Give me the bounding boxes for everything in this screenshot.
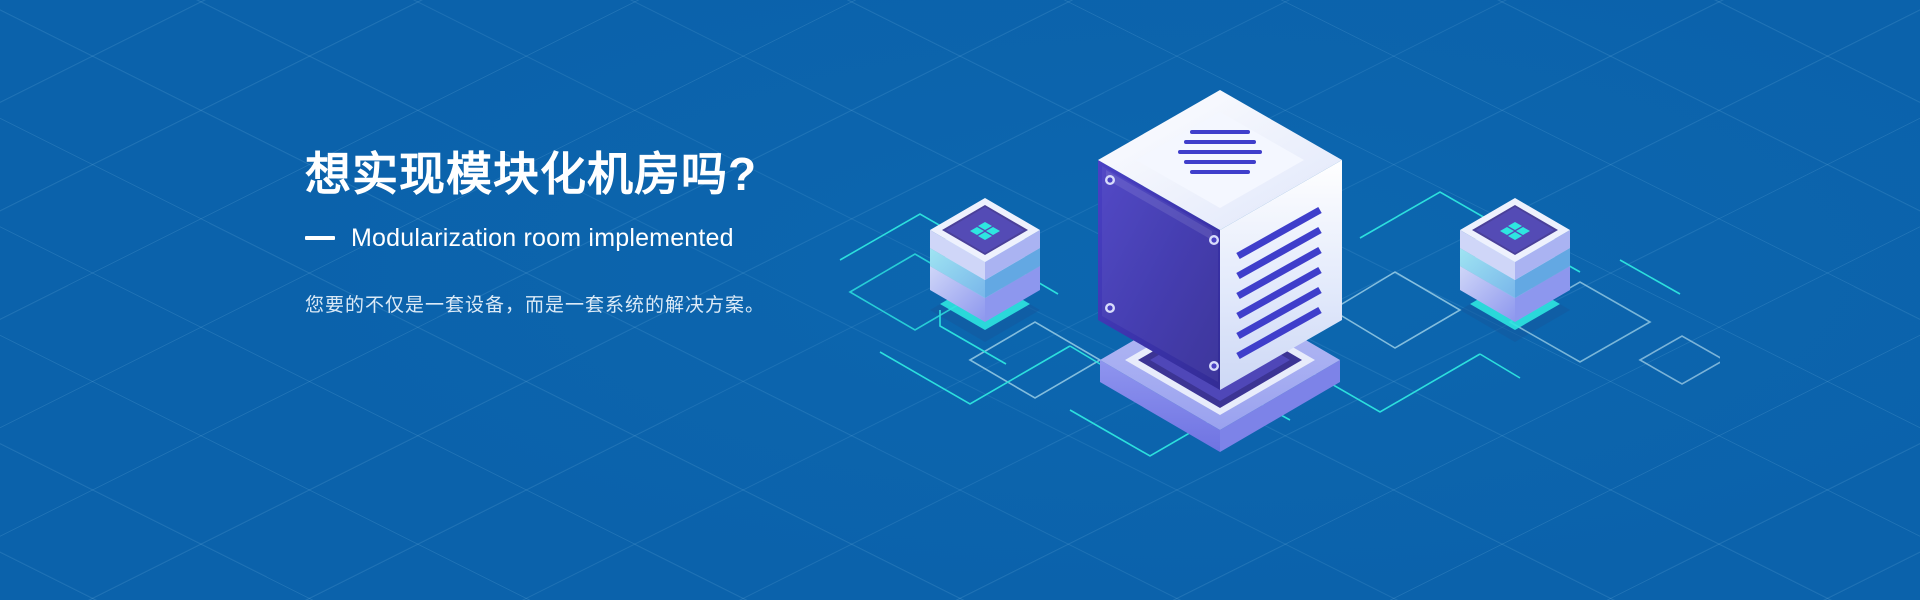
server-tower <box>1098 90 1342 452</box>
banner-subtitle: Modularization room implemented <box>351 223 734 253</box>
isometric-server-room-illustration <box>820 60 1720 460</box>
dash-icon <box>305 236 335 240</box>
hero-banner: 想实现模块化机房吗? Modularization room implement… <box>0 0 1920 600</box>
